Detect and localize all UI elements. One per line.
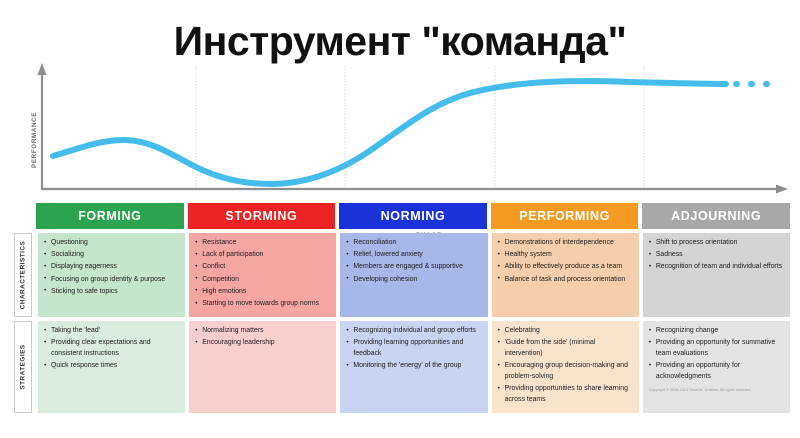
- header-row-spacer: [14, 203, 30, 229]
- list-item: Recognition of team and individual effor…: [649, 262, 784, 273]
- cell-characteristics-performing: Demonstrations of interdependence Health…: [492, 233, 639, 317]
- list-item: Providing an opportunity for acknowledgm…: [649, 361, 784, 382]
- list-item: Starting to move towards group norms: [195, 299, 330, 310]
- list-item: Competition: [195, 275, 330, 286]
- page-title: Инструмент "команда": [0, 18, 800, 65]
- row-label-characteristics: CHARACTERISTICS: [14, 233, 32, 317]
- performance-phase-chart: PERFORMANCE PHASE: [20, 60, 790, 200]
- item-list: Shift to process orientation Sadness Rec…: [649, 238, 784, 273]
- list-item: Members are engaged & supportive: [346, 262, 481, 273]
- item-list: Resistance Lack of participation Conflic…: [195, 238, 330, 310]
- list-item: Encouraging leadership: [195, 338, 330, 349]
- cell-strategies-performing: Celebrating 'Guide from the side' (minim…: [492, 321, 639, 413]
- list-item: Providing opportunities to share learnin…: [498, 384, 633, 405]
- list-item: Sadness: [649, 250, 784, 261]
- cell-characteristics-adjourning: Shift to process orientation Sadness Rec…: [643, 233, 790, 317]
- column-header-label: ADJOURNING: [671, 209, 761, 223]
- header-cells: FORMING STORMING NORMING PERFORMING ADJO…: [36, 203, 790, 229]
- list-item: Lack of participation: [195, 250, 330, 261]
- list-item: Normalizing matters: [195, 326, 330, 337]
- list-item: Recognizing change: [649, 326, 784, 337]
- list-item: Balance of task and process orientation: [498, 275, 633, 286]
- item-list: Taking the 'lead' Providing clear expect…: [44, 326, 179, 372]
- list-item: Reconciliation: [346, 238, 481, 249]
- row-label-strategies: STRATEGIES: [14, 321, 32, 413]
- list-item: Monitoring the 'energy' of the group: [346, 361, 481, 372]
- cell-characteristics-forming: Questioning Socializing Displaying eager…: [38, 233, 185, 317]
- performance-curve: [53, 81, 726, 184]
- list-item: Socializing: [44, 250, 179, 261]
- list-item: Questioning: [44, 238, 179, 249]
- list-item: 'Guide from the side' (minimal intervent…: [498, 338, 633, 359]
- cell-characteristics-norming: Reconciliation Relief, lowered anxiety M…: [340, 233, 487, 317]
- strategies-row: STRATEGIES Taking the 'lead' Providing c…: [14, 321, 790, 413]
- item-list: Reconciliation Relief, lowered anxiety M…: [346, 238, 481, 285]
- item-list: Normalizing matters Encouraging leadersh…: [195, 326, 330, 349]
- column-header-norming[interactable]: NORMING: [339, 203, 487, 229]
- y-axis: [38, 63, 47, 190]
- cell-strategies-norming: Recognizing individual and group efforts…: [340, 321, 487, 413]
- characteristics-row: CHARACTERISTICS Questioning Socializing …: [14, 233, 790, 317]
- list-item: Shift to process orientation: [649, 238, 784, 249]
- copyright-notice: Copyright © 2008-2014 Scott W. Graffius.…: [649, 388, 784, 394]
- column-header-label: FORMING: [78, 209, 141, 223]
- column-header-forming[interactable]: FORMING: [36, 203, 184, 229]
- cell-strategies-forming: Taking the 'lead' Providing clear expect…: [38, 321, 185, 413]
- column-header-label: NORMING: [381, 209, 446, 223]
- list-item: Quick response times: [44, 361, 179, 372]
- column-header-label: STORMING: [225, 209, 297, 223]
- list-item: Demonstrations of interdependence: [498, 238, 633, 249]
- row-label-text: CHARACTERISTICS: [20, 241, 27, 310]
- column-header-adjourning[interactable]: ADJOURNING: [642, 203, 790, 229]
- list-item: Resistance: [195, 238, 330, 249]
- y-axis-label: PERFORMANCE: [31, 112, 38, 168]
- strategies-cells: Taking the 'lead' Providing clear expect…: [38, 321, 790, 413]
- list-item: Conflict: [195, 262, 330, 273]
- list-item: Displaying eagerness: [44, 262, 179, 273]
- column-header-label: PERFORMING: [519, 209, 610, 223]
- cell-strategies-storming: Normalizing matters Encouraging leadersh…: [189, 321, 336, 413]
- row-label-text: STRATEGIES: [20, 344, 27, 389]
- characteristics-cells: Questioning Socializing Displaying eager…: [38, 233, 790, 317]
- item-list: Celebrating 'Guide from the side' (minim…: [498, 326, 633, 405]
- item-list: Demonstrations of interdependence Health…: [498, 238, 633, 285]
- list-item: Ability to effectively produce as a team: [498, 262, 633, 273]
- item-list: Questioning Socializing Displaying eager…: [44, 238, 179, 298]
- column-header-storming[interactable]: STORMING: [188, 203, 336, 229]
- chart-gridlines: [196, 66, 644, 190]
- tuckman-stages-table: FORMING STORMING NORMING PERFORMING ADJO…: [14, 203, 790, 413]
- column-header-performing[interactable]: PERFORMING: [491, 203, 639, 229]
- list-item: Taking the 'lead': [44, 326, 179, 337]
- list-item: High emotions: [195, 287, 330, 298]
- list-item: Providing learning opportunities and fee…: [346, 338, 481, 359]
- list-item: Relief, lowered anxiety: [346, 250, 481, 261]
- list-item: Providing an opportunity for summative t…: [649, 338, 784, 359]
- x-axis: [42, 185, 788, 194]
- chart-svg: [20, 60, 790, 200]
- list-item: Encouraging group decision-making and pr…: [498, 361, 633, 382]
- list-item: Sticking to safe topics: [44, 287, 179, 298]
- cell-characteristics-storming: Resistance Lack of participation Conflic…: [189, 233, 336, 317]
- list-item: Recognizing individual and group efforts: [346, 326, 481, 337]
- list-item: Focusing on group identity & purpose: [44, 275, 179, 286]
- item-list: Recognizing individual and group efforts…: [346, 326, 481, 372]
- list-item: Healthy system: [498, 250, 633, 261]
- list-item: Providing clear expectations and consist…: [44, 338, 179, 359]
- cell-strategies-adjourning: Recognizing change Providing an opportun…: [643, 321, 790, 413]
- list-item: Celebrating: [498, 326, 633, 337]
- table-header-row: FORMING STORMING NORMING PERFORMING ADJO…: [14, 203, 790, 229]
- list-item: Developing cohesion: [346, 275, 481, 286]
- item-list: Recognizing change Providing an opportun…: [649, 326, 784, 383]
